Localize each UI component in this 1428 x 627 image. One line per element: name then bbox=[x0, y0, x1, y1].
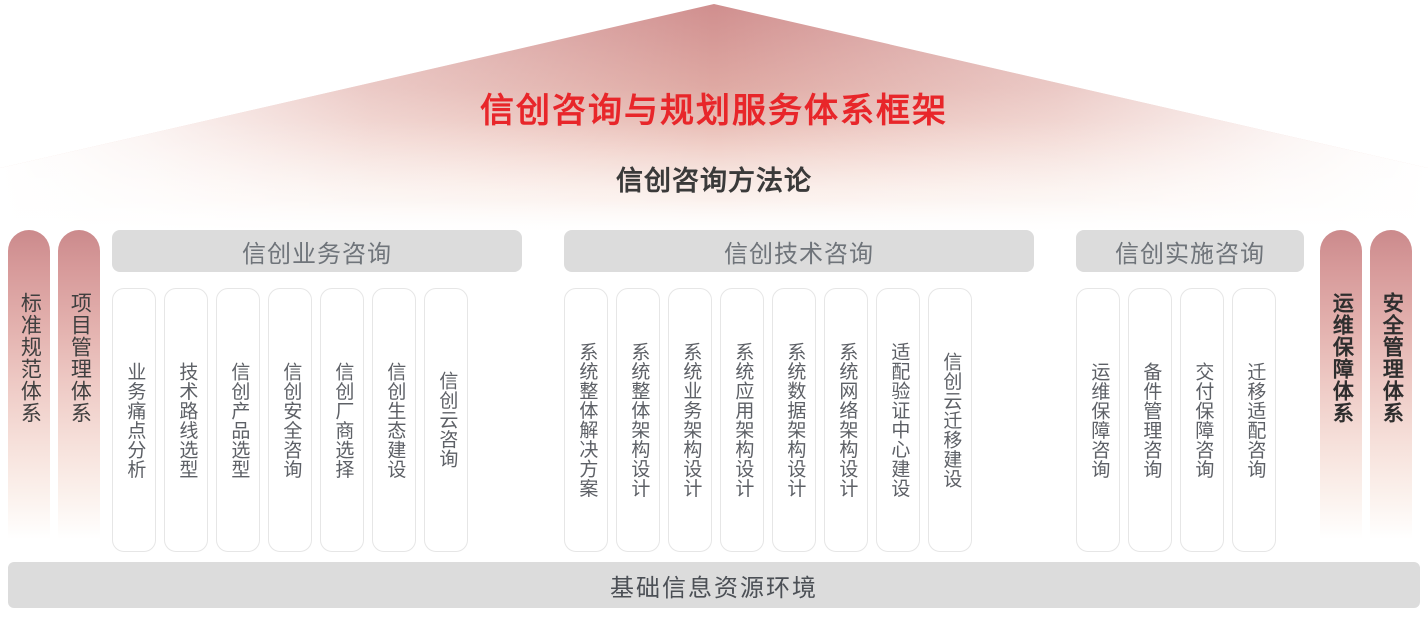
item-card[interactable]: 适配验证中心建设 bbox=[876, 288, 920, 552]
group-items-technology: 系统整体解决方案 系统整体架构设计 系统业务架构设计 系统应用架构设计 系统数据… bbox=[564, 288, 972, 552]
diagram-canvas: 信创咨询与规划服务体系框架 信创咨询方法论 标准规范体系 项目管理体系 运维保障… bbox=[0, 0, 1428, 627]
item-card[interactable]: 系统网络架构设计 bbox=[824, 288, 868, 552]
item-label: 系统业务架构设计 bbox=[679, 342, 702, 498]
item-card[interactable]: 交付保障咨询 bbox=[1180, 288, 1224, 552]
item-card[interactable]: 业务痛点分析 bbox=[112, 288, 156, 552]
item-card[interactable]: 技术路线选型 bbox=[164, 288, 208, 552]
item-label: 业务痛点分析 bbox=[123, 362, 146, 479]
item-card[interactable]: 信创云迁移建设 bbox=[928, 288, 972, 552]
item-card[interactable]: 信创产品选型 bbox=[216, 288, 260, 552]
item-card[interactable]: 迁移适配咨询 bbox=[1232, 288, 1276, 552]
page-title: 信创咨询与规划服务体系框架 bbox=[0, 94, 1428, 128]
item-label: 系统数据架构设计 bbox=[783, 342, 806, 498]
item-label: 系统网络架构设计 bbox=[835, 342, 858, 498]
item-label: 信创云迁移建设 bbox=[939, 352, 962, 489]
pillar-label: 安全管理体系 bbox=[1379, 292, 1404, 424]
item-card[interactable]: 系统整体架构设计 bbox=[616, 288, 660, 552]
item-label: 信创产品选型 bbox=[227, 362, 250, 479]
pillar-security-management-system[interactable]: 安全管理体系 bbox=[1370, 230, 1412, 552]
foundation-bar[interactable]: 基础信息资源环境 bbox=[8, 562, 1420, 608]
item-label: 信创生态建设 bbox=[383, 362, 406, 479]
item-card[interactable]: 系统业务架构设计 bbox=[668, 288, 712, 552]
item-label: 运维保障咨询 bbox=[1087, 362, 1110, 479]
item-card[interactable]: 运维保障咨询 bbox=[1076, 288, 1120, 552]
group-technology-consulting: 信创技术咨询 系统整体解决方案 系统整体架构设计 系统业务架构设计 系统应用架构… bbox=[564, 230, 1034, 272]
item-card[interactable]: 信创安全咨询 bbox=[268, 288, 312, 552]
group-header-business[interactable]: 信创业务咨询 bbox=[112, 230, 522, 272]
item-card[interactable]: 系统整体解决方案 bbox=[564, 288, 608, 552]
group-items-implementation: 运维保障咨询 备件管理咨询 交付保障咨询 迁移适配咨询 bbox=[1076, 288, 1276, 552]
item-card[interactable]: 备件管理咨询 bbox=[1128, 288, 1172, 552]
item-card[interactable]: 系统应用架构设计 bbox=[720, 288, 764, 552]
pillar-ops-guarantee-system[interactable]: 运维保障体系 bbox=[1320, 230, 1362, 552]
pillar-project-management-system[interactable]: 项目管理体系 bbox=[58, 230, 100, 552]
pillar-label: 标准规范体系 bbox=[17, 292, 42, 424]
item-card[interactable]: 信创厂商选择 bbox=[320, 288, 364, 552]
item-label: 系统应用架构设计 bbox=[731, 342, 754, 498]
pillar-label: 项目管理体系 bbox=[67, 292, 92, 424]
group-header-implementation[interactable]: 信创实施咨询 bbox=[1076, 230, 1304, 272]
item-label: 迁移适配咨询 bbox=[1243, 362, 1266, 479]
item-label: 备件管理咨询 bbox=[1139, 362, 1162, 479]
item-label: 系统整体解决方案 bbox=[575, 342, 598, 498]
group-implementation-consulting: 信创实施咨询 运维保障咨询 备件管理咨询 交付保障咨询 迁移适配咨询 bbox=[1076, 230, 1304, 272]
item-label: 信创安全咨询 bbox=[279, 362, 302, 479]
item-card[interactable]: 信创云咨询 bbox=[424, 288, 468, 552]
group-header-technology[interactable]: 信创技术咨询 bbox=[564, 230, 1034, 272]
group-business-consulting: 信创业务咨询 业务痛点分析 技术路线选型 信创产品选型 信创安全咨询 信创厂商选… bbox=[112, 230, 522, 272]
item-label: 适配验证中心建设 bbox=[887, 342, 910, 498]
item-label: 交付保障咨询 bbox=[1191, 362, 1214, 479]
item-label: 系统整体架构设计 bbox=[627, 342, 650, 498]
group-items-business: 业务痛点分析 技术路线选型 信创产品选型 信创安全咨询 信创厂商选择 信创生态建… bbox=[112, 288, 468, 552]
item-card[interactable]: 信创生态建设 bbox=[372, 288, 416, 552]
item-label: 信创云咨询 bbox=[435, 371, 458, 469]
item-label: 信创厂商选择 bbox=[331, 362, 354, 479]
pillar-label: 运维保障体系 bbox=[1329, 292, 1354, 424]
page-subtitle: 信创咨询方法论 bbox=[0, 168, 1428, 195]
item-label: 技术路线选型 bbox=[175, 362, 198, 479]
pillar-standard-spec-system[interactable]: 标准规范体系 bbox=[8, 230, 50, 552]
item-card[interactable]: 系统数据架构设计 bbox=[772, 288, 816, 552]
